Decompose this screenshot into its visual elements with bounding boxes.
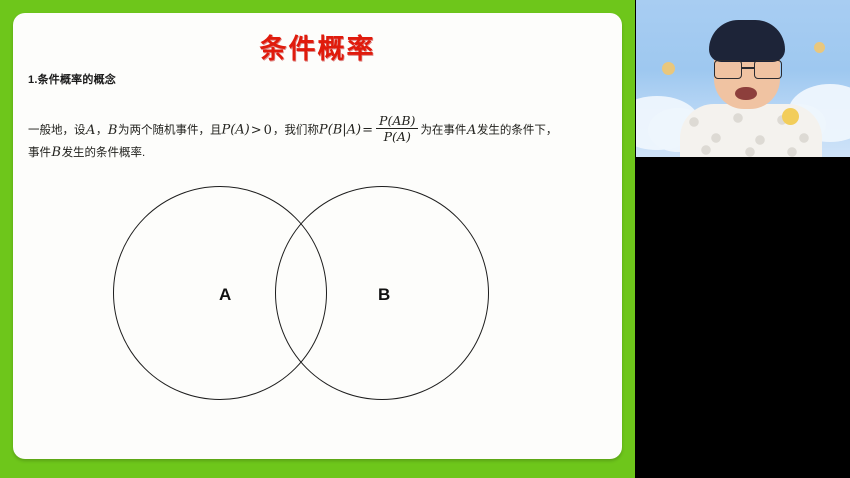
section-heading: 1.条件概率的概念 — [28, 71, 116, 87]
para2-text-2: 发生的条件概率. — [62, 147, 146, 159]
presentation-stage: 条件概率 1.条件概率的概念 一般地，设A，B为两个随机事件，且P(A)>0，我… — [0, 0, 635, 478]
fraction-numerator: P(AB) — [376, 113, 418, 128]
video-letterbox-area — [635, 157, 850, 478]
lens-right — [754, 60, 782, 79]
patterned-shirt — [680, 104, 822, 157]
glasses-bridge — [741, 67, 754, 69]
para1-comma-2: ， — [273, 125, 285, 137]
lens-left — [714, 60, 742, 79]
eyeglasses-icon — [712, 60, 782, 77]
para1-gt-operator: > — [250, 123, 263, 138]
para1-conditional-prob: P(B|A) — [319, 123, 361, 138]
definition-paragraph-line-1: 一般地，设A，B为两个随机事件，且P(A)>0，我们称P(B|A)=P(AB)P… — [28, 113, 557, 145]
para2-text-1: 事件 — [28, 147, 51, 159]
video-panel — [635, 0, 850, 478]
para1-text-3: 我们称 — [284, 125, 319, 137]
para1-text-1: 一般地，设 — [28, 125, 86, 137]
para1-zero: 0 — [263, 123, 273, 138]
definition-paragraph-line-2: 事件B发生的条件概率. — [28, 145, 145, 161]
conditional-probability-fraction: P(AB)P(A) — [376, 113, 418, 145]
instructor-figure — [636, 0, 850, 157]
para1-var-a: A — [86, 123, 96, 138]
venn-diagram: A B — [13, 163, 622, 433]
fraction-denominator: P(A) — [376, 128, 418, 144]
screen-root: 条件概率 1.条件概率的概念 一般地，设A，B为两个随机事件，且P(A)>0，我… — [0, 0, 850, 478]
para1-text-4: 为在事件 — [420, 125, 466, 137]
para1-var-b: B — [107, 123, 118, 138]
para1-equals-operator: = — [361, 123, 374, 138]
slide-card: 条件概率 1.条件概率的概念 一般地，设A，B为两个随机事件，且P(A)>0，我… — [13, 13, 622, 459]
mouth — [735, 87, 757, 100]
para1-prob-a: P(A) — [221, 123, 249, 138]
para1-comma-1: ， — [96, 125, 108, 137]
para1-var-a2: A — [466, 123, 476, 138]
slide-title: 条件概率 — [13, 27, 622, 66]
shirt-badge — [782, 108, 799, 125]
venn-label-b: B — [378, 285, 390, 305]
para1-text-2: 为两个随机事件，且 — [118, 125, 222, 137]
venn-label-a: A — [219, 285, 231, 305]
para1-text-5: 发生的条件下， — [477, 125, 558, 137]
hair — [709, 20, 785, 62]
instructor-webcam-feed[interactable] — [636, 0, 850, 157]
para2-var-b: B — [51, 145, 62, 160]
